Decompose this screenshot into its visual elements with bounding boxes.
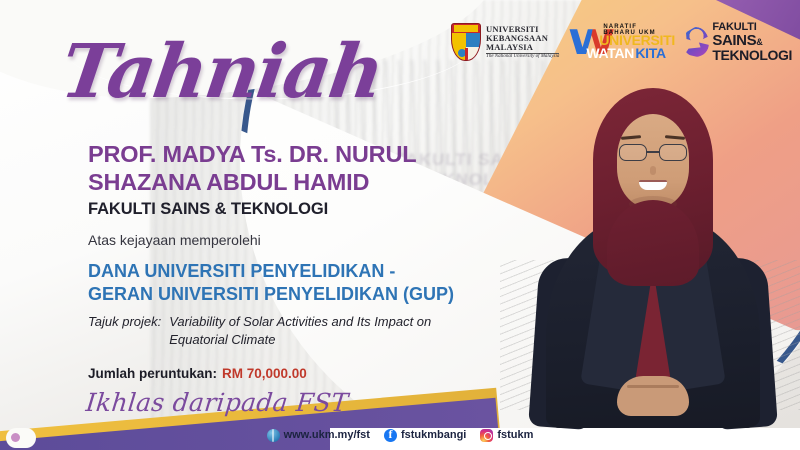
portrait-smile <box>639 180 667 190</box>
grant-line-2: GERAN UNIVERSITI PENYELIDIKAN (GUP) <box>88 283 508 306</box>
recipient-name: PROF. MADYA Ts. DR. NURUL SHAZANA ABDUL … <box>88 140 518 196</box>
watan-word-watan: WATAN <box>586 45 634 61</box>
recipient-name-line2: SHAZANA ABDUL HAMID <box>88 168 518 196</box>
grant-name: DANA UNIVERSITI PENYELIDIKAN - GERAN UNI… <box>88 260 508 306</box>
allocation-amount: RM 70,000.00 <box>222 366 307 381</box>
glasses-lens-right <box>659 144 687 161</box>
grant-line-1: DANA UNIVERSITI PENYELIDIKAN - <box>88 261 395 281</box>
glasses-bridge <box>647 151 659 153</box>
instagram-label: fstukm <box>497 429 533 441</box>
globe-icon <box>267 429 280 442</box>
facebook-icon <box>384 429 397 442</box>
project-title: Variability of Solar Activities and Its … <box>169 313 469 349</box>
social-footer: www.ukm.my/fst fstukmbangi fstukm <box>0 426 800 444</box>
fst-logo-text: FAKULTI SAINS& TEKNOLOGI <box>712 22 792 62</box>
allocation-label: Jumlah peruntukan: <box>88 366 217 381</box>
naratif-baharu-logo: W NARATIF BAHARU UKM UNIVERSITI WATAN KI… <box>573 22 669 62</box>
recipient-portrait <box>528 88 778 428</box>
headline-tahniah: Tahniah <box>56 30 387 114</box>
instagram-icon <box>480 429 493 442</box>
glasses-lens-left <box>619 144 647 161</box>
project-block: Tajuk projek:Variability of Solar Activi… <box>88 313 508 349</box>
congratulations-banner: FAKULTI SAINS & TEKNOLOGI <box>0 0 800 450</box>
project-label: Tajuk projek: <box>88 314 161 329</box>
footer-instagram[interactable]: fstukm <box>480 429 533 442</box>
allocation-block: Jumlah peruntukan:RM 70,000.00 <box>88 366 307 381</box>
fst-line-2: SAINS& <box>712 33 792 48</box>
portrait-glasses <box>619 144 687 162</box>
facebook-label: fstukmbangi <box>401 429 466 441</box>
fst-s-mark-icon <box>683 27 709 57</box>
recipient-name-line1: PROF. MADYA Ts. DR. NURUL <box>88 141 416 167</box>
signoff-text: Ikhlas daripada FST <box>84 388 349 417</box>
banner-content: Tahniah PROF. MADYA Ts. DR. NURUL SHAZAN… <box>0 0 540 450</box>
portrait-nose <box>650 166 656 175</box>
footer-website[interactable]: www.ukm.my/fst <box>267 429 370 442</box>
website-label: www.ukm.my/fst <box>284 429 370 441</box>
watan-word-kita: KITA <box>635 45 665 61</box>
fst-logo: FAKULTI SAINS& TEKNOLOGI <box>683 22 792 62</box>
portrait-hands <box>617 376 689 416</box>
achievement-intro: Atas kejayaan memperolehi <box>88 232 261 248</box>
fst-line-3: TEKNOLOGI <box>712 48 792 62</box>
footer-facebook[interactable]: fstukmbangi <box>384 429 466 442</box>
recipient-faculty: FAKULTI SAINS & TEKNOLOGI <box>88 200 328 219</box>
